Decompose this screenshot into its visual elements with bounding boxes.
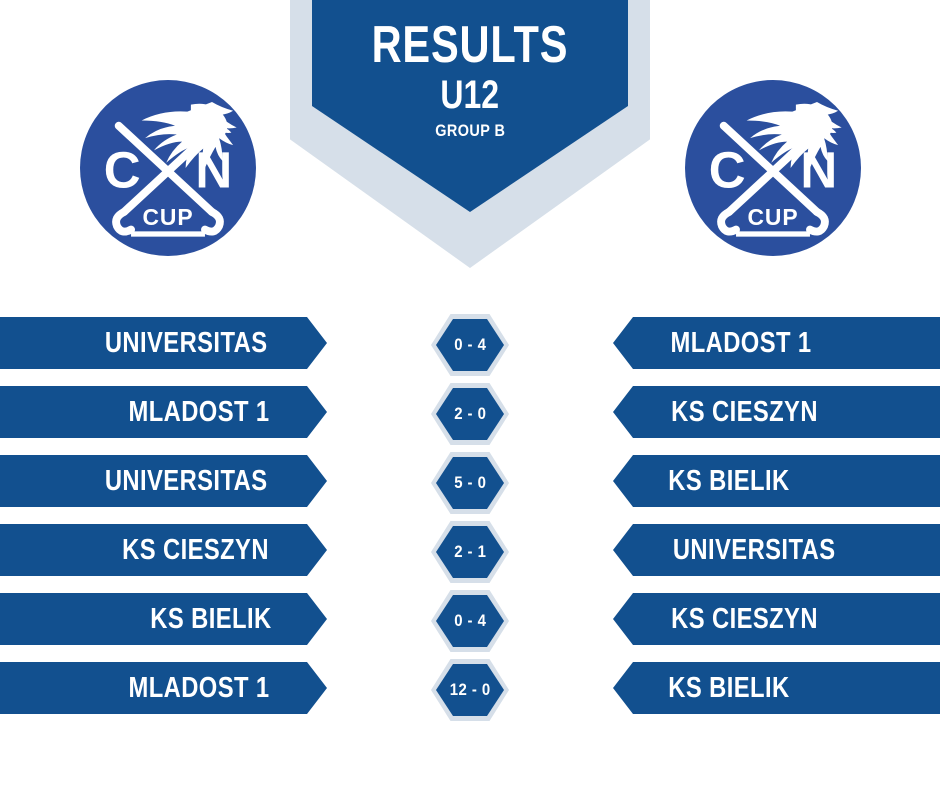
cup-logo-left: C N CUP (80, 80, 256, 256)
score-badge-inner: 2 - 0 (436, 388, 504, 440)
score-badge: 0 - 4 (431, 314, 509, 376)
away-team-bar[interactable]: KS BIELIK (613, 455, 940, 507)
away-team-name: UNIVERSITAS (673, 534, 836, 567)
away-team-bar[interactable]: UNIVERSITAS (613, 524, 940, 576)
svg-text:N: N (800, 141, 837, 198)
home-team-name: UNIVERSITAS (105, 465, 268, 498)
score-text: 12 - 0 (450, 680, 491, 700)
home-team-name: KS BIELIK (150, 603, 271, 636)
score-text: 2 - 1 (454, 542, 486, 562)
home-team-bar[interactable]: UNIVERSITAS (0, 455, 327, 507)
away-team-bar[interactable]: KS BIELIK (613, 662, 940, 714)
score-text: 2 - 0 (454, 404, 486, 424)
score-badge-inner: 2 - 1 (436, 526, 504, 578)
home-team-bar[interactable]: KS CIESZYN (0, 524, 327, 576)
score-badge-inner: 0 - 4 (436, 595, 504, 647)
match-row: UNIVERSITAS5 - 0KS BIELIK (0, 455, 940, 507)
score-badge-inner: 5 - 0 (436, 457, 504, 509)
away-team-name: KS BIELIK (668, 672, 789, 705)
results-list: UNIVERSITAS0 - 4MLADOST 1MLADOST 12 - 0K… (0, 317, 940, 731)
score-text: 5 - 0 (454, 473, 486, 493)
cn-cup-logo-icon: C N CUP (685, 80, 861, 256)
svg-text:C: C (104, 141, 141, 198)
score-badge-inner: 0 - 4 (436, 319, 504, 371)
away-team-name: KS CIESZYN (671, 396, 818, 429)
cup-logo-right: C N CUP (685, 80, 861, 256)
home-team-name: KS CIESZYN (122, 534, 269, 567)
cn-cup-logo-icon: C N CUP (80, 80, 256, 256)
match-row: MLADOST 12 - 0KS CIESZYN (0, 386, 940, 438)
match-row: KS CIESZYN2 - 1UNIVERSITAS (0, 524, 940, 576)
home-team-bar[interactable]: UNIVERSITAS (0, 317, 327, 369)
age-group-label: U12 (441, 75, 500, 116)
score-badge: 12 - 0 (431, 659, 509, 721)
score-text: 0 - 4 (454, 611, 486, 631)
svg-text:CUP: CUP (143, 204, 194, 230)
score-badge: 0 - 4 (431, 590, 509, 652)
home-team-bar[interactable]: KS BIELIK (0, 593, 327, 645)
score-text: 0 - 4 (454, 335, 486, 355)
score-badge: 2 - 0 (431, 383, 509, 445)
away-team-bar[interactable]: KS CIESZYN (613, 386, 940, 438)
score-badge: 5 - 0 (431, 452, 509, 514)
group-label: GROUP B (435, 121, 505, 141)
away-team-bar[interactable]: MLADOST 1 (613, 317, 940, 369)
away-team-name: KS BIELIK (668, 465, 789, 498)
match-row: MLADOST 112 - 0KS BIELIK (0, 662, 940, 714)
away-team-name: MLADOST 1 (670, 327, 811, 360)
match-row: UNIVERSITAS0 - 4MLADOST 1 (0, 317, 940, 369)
home-team-bar[interactable]: MLADOST 1 (0, 386, 327, 438)
home-team-bar[interactable]: MLADOST 1 (0, 662, 327, 714)
home-team-name: MLADOST 1 (128, 396, 269, 429)
header-text-group: RESULTS U12 GROUP B (312, 0, 628, 212)
away-team-bar[interactable]: KS CIESZYN (613, 593, 940, 645)
svg-text:CUP: CUP (748, 204, 799, 230)
svg-text:C: C (709, 141, 746, 198)
page-title: RESULTS (372, 20, 569, 71)
match-row: KS BIELIK0 - 4KS CIESZYN (0, 593, 940, 645)
svg-text:N: N (195, 141, 232, 198)
home-team-name: MLADOST 1 (128, 672, 269, 705)
score-badge-inner: 12 - 0 (436, 664, 504, 716)
home-team-name: UNIVERSITAS (105, 327, 268, 360)
score-badge: 2 - 1 (431, 521, 509, 583)
away-team-name: KS CIESZYN (671, 603, 818, 636)
